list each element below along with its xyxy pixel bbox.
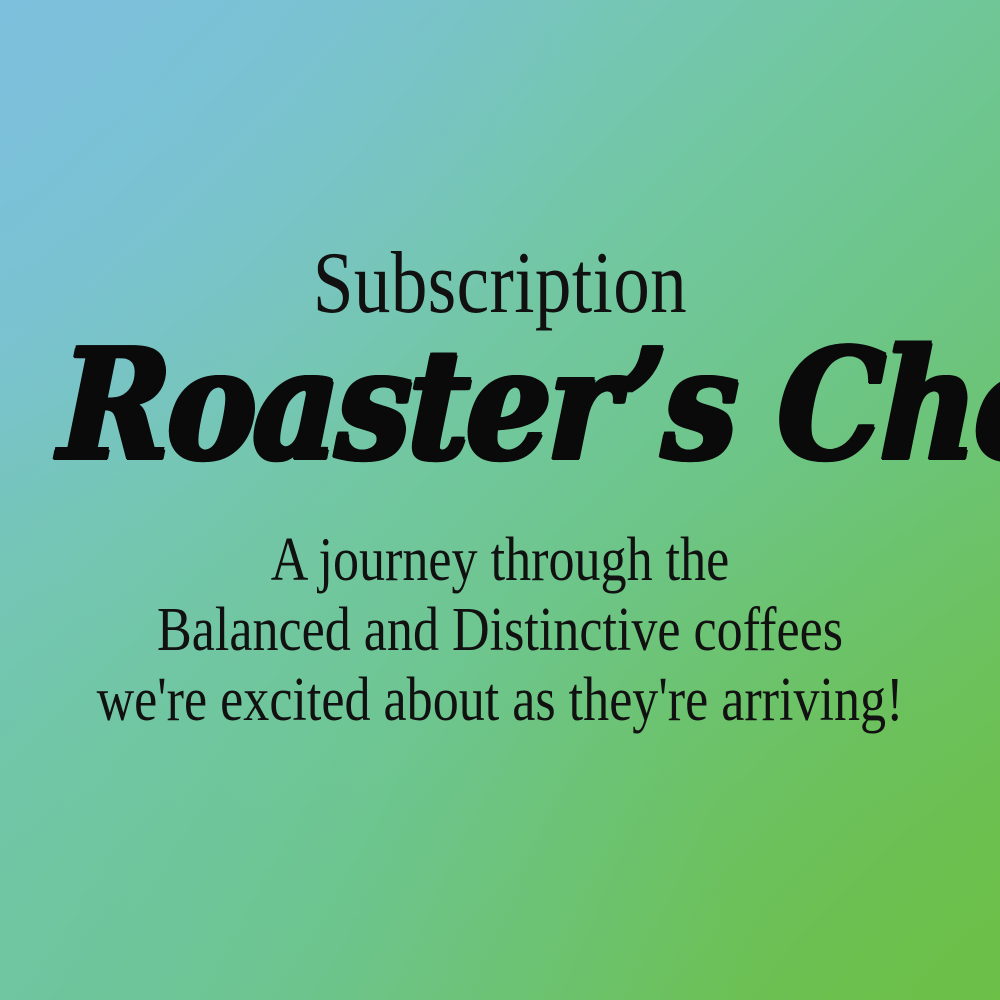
description-line-3: we're excited about as they're arriving! (80, 665, 920, 735)
description-line-1: A journey through the (80, 525, 920, 595)
promo-content-stack: Subscription Roaster’s Choice A journey … (0, 0, 1000, 1000)
promo-description: A journey through the Balanced and Disti… (0, 525, 1000, 735)
description-line-2: Balanced and Distinctive coffees (80, 595, 920, 665)
roasters-choice-hero-title: Roaster’s Choice (58, 330, 943, 480)
subscription-promo-card: Subscription Roaster’s Choice A journey … (0, 0, 1000, 1000)
